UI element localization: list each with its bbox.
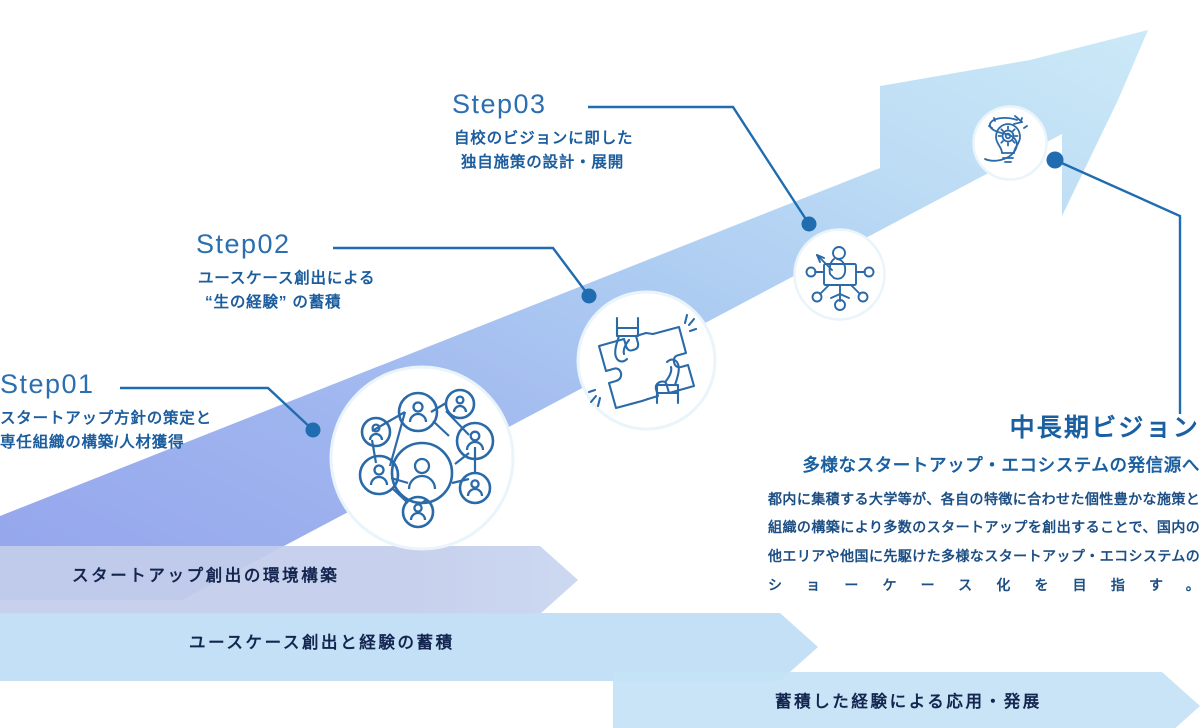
step-02-desc-line1: ユースケース創出による (198, 267, 375, 291)
step-03-desc-line2: 独自施策の設計・展開 (454, 151, 633, 175)
step-03-description: 自校のビジョンに即した 独自施策の設計・展開 (452, 127, 633, 175)
step-01-desc-line2: 専任組織の構築/人材獲得 (0, 431, 212, 455)
step-01-description: スタートアップ方針の策定と 専任組織の構築/人材獲得 (0, 407, 212, 455)
step-03-title: Step03 (452, 91, 633, 118)
step-03-desc-line1: 自校のビジョンに即した (454, 127, 633, 151)
puzzle-handshake-icon (576, 290, 717, 431)
vision-subtitle: 多様なスタートアップ・エコシステムの発信源へ (768, 455, 1200, 476)
people-network-icon (329, 365, 515, 551)
vision-body-text: 都内に集積する大学等が、各自の特徴に合わせた個性豊かな施策と組織の構築により多数… (768, 485, 1200, 600)
lightbulb-gear-arrow-icon (972, 105, 1048, 181)
infographic-canvas: Step01 スタートアップ方針の策定と 専任組織の構築/人材獲得 Step02… (0, 0, 1200, 728)
banner-label-1: スタートアップ創出の環境構築 (72, 562, 339, 586)
step-block-03: Step03 自校のビジョンに即した 独自施策の設計・展開 (452, 91, 633, 175)
banner-label-3: 蓄積した経験による応用・発展 (775, 688, 1042, 712)
vision-title: 中長期ビジョン (768, 415, 1200, 443)
step-01-desc-line1: スタートアップ方針の策定と (0, 407, 212, 431)
presentation-network-icon (793, 228, 886, 321)
step-02-title: Step02 (196, 231, 375, 258)
step-01-title: Step01 (0, 371, 212, 398)
step-block-02: Step02 ユースケース創出による “生の経験” の蓄積 (196, 231, 375, 315)
step-block-01: Step01 スタートアップ方針の策定と 専任組織の構築/人材獲得 (0, 371, 212, 455)
vision-block: 中長期ビジョン 多様なスタートアップ・エコシステムの発信源へ 都内に集積する大学… (768, 415, 1200, 600)
step-02-description: ユースケース創出による “生の経験” の蓄積 (196, 267, 375, 315)
banner-label-2: ユースケース創出と経験の蓄積 (189, 629, 455, 653)
step-02-desc-line2: “生の経験” の蓄積 (198, 291, 375, 315)
